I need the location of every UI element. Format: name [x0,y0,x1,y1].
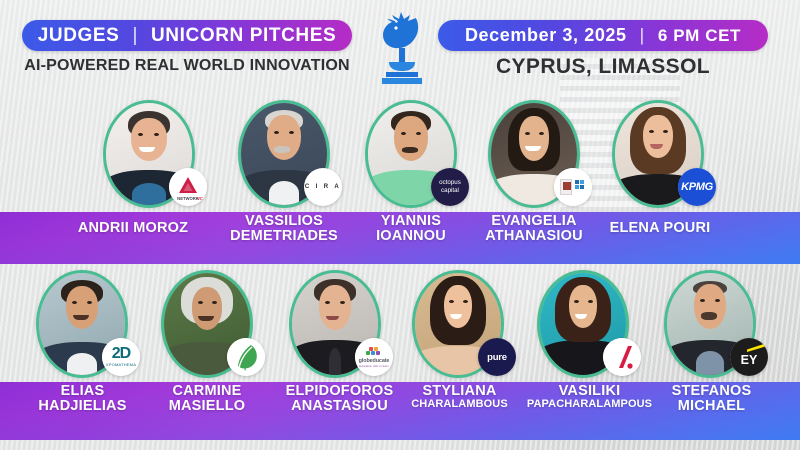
judge-card[interactable]: f [161,270,253,378]
twenty-logo-sub: XPOMATHEMA [106,362,136,367]
judge-card[interactable]: 2D XPOMATHEMA [36,270,128,378]
globeducate-logo: globeducate Education with a vision [355,338,393,376]
globeducate-logo-sub: Education with a vision [359,364,388,368]
judge-card[interactable]: EY [664,270,756,378]
twenty-logo-mark: 2D [112,347,130,361]
networkvc-logo: NETWORK VC [169,168,207,206]
judge-card[interactable]: octopus capital [365,100,457,208]
pure-logo-text: pure [478,338,516,376]
judges-label: JUDGES [38,25,120,47]
poster-canvas: JUDGES | UNICORN PITCHES AI-POWERED REAL… [0,0,800,450]
judge-card[interactable]: globeducate Education with a vision [289,270,381,378]
svg-text:VC: VC [197,196,203,201]
header: JUDGES | UNICORN PITCHES AI-POWERED REAL… [0,0,800,95]
octopus-capital-logo: octopus capital [431,168,469,206]
ace-logo-left [560,179,572,195]
unicorn-pitches-label: UNICORN PITCHES [151,25,336,47]
event-subtitle: AI-POWERED REAL WORLD INNOVATION [19,57,355,75]
judge-card[interactable]: pure [412,270,504,378]
event-location: CYPRUS, LIMASSOL [438,55,768,79]
cira-logo-text: C I R A [305,184,341,190]
judge-card[interactable]: KPMG [612,100,704,208]
judge-card[interactable]: NETWORK VC [103,100,195,208]
judges-row-1: NETWORK VC ANDRII MOROZ [0,100,800,265]
ace-logo-right [574,179,586,195]
judges-row-2: 2D XPOMATHEMA ELIAS HADJIELIAS [0,270,800,435]
judge-card[interactable]: C I R A [238,100,330,208]
ey-logo: EY [730,338,768,376]
title-separator: | [132,25,138,47]
slash-logo [603,338,641,376]
event-date: December 3, 2025 [465,25,627,46]
judge-name-line2: MICHAEL [634,399,789,414]
octopus-logo-line2: capital [441,187,459,195]
svg-text:NETWORK: NETWORK [177,196,199,201]
judge-name: ELENA POURI [575,221,745,236]
unicorn-trophy-icon [376,8,428,90]
judges-title-pill: JUDGES | UNICORN PITCHES [22,20,352,51]
judge-name-line1: STEFANOS [634,384,789,399]
ey-logo-text: EY [741,353,758,367]
twenty-logo: 2D XPOMATHEMA [102,338,140,376]
pure-logo: pure [478,338,516,376]
judge-name-line1: ELENA POURI [575,221,745,236]
judge-name-line1: ANDRII MOROZ [53,221,213,236]
event-time: 6 PM CET [658,26,741,46]
datetime-separator: | [640,25,645,46]
kpmg-logo-text: KPMG [678,168,716,206]
judge-name: ANDRII MOROZ [53,221,213,236]
octopus-logo-line1: octopus [439,179,461,187]
judge-card[interactable] [537,270,629,378]
cira-logo: C I R A [304,168,342,206]
green-leaf-logo: f [227,338,265,376]
ace-dual-logo [554,168,592,206]
judge-card[interactable] [488,100,580,208]
date-time-pill: December 3, 2025 | 6 PM CET [438,20,768,51]
kpmg-logo: KPMG [678,168,716,206]
judge-name: STEFANOS MICHAEL [634,384,789,414]
